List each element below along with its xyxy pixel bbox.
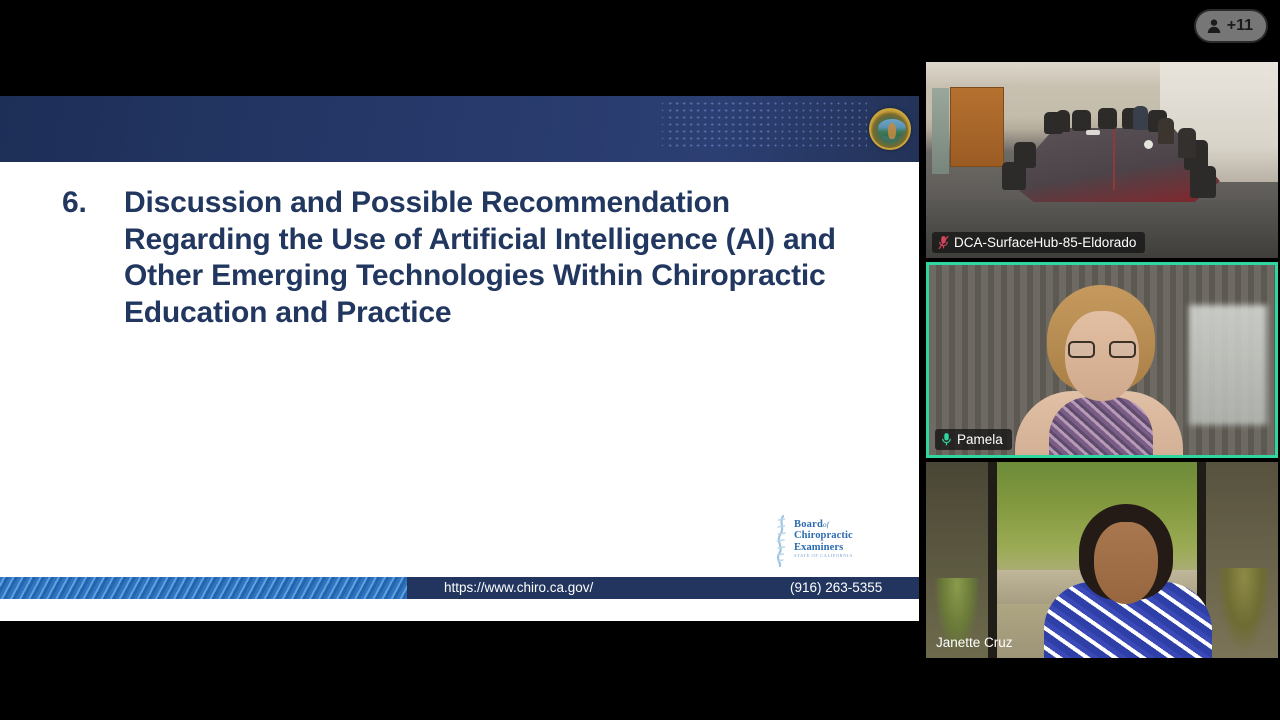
table-cup <box>1144 140 1153 149</box>
participant-face <box>1094 522 1158 604</box>
overflow-count: +11 <box>1227 17 1253 35</box>
eyeglasses-icon <box>1068 341 1136 358</box>
overflow-participants-badge[interactable]: +11 <box>1194 9 1268 43</box>
participant-clothing <box>1049 397 1153 455</box>
participant-tile-pamela[interactable]: Pamela <box>926 262 1278 458</box>
chair <box>1072 110 1091 131</box>
room-door <box>950 87 1004 167</box>
room-glass-panel <box>932 88 949 174</box>
footer-phone-number: (916) 263-5355 <box>790 580 882 595</box>
microphone-icon <box>941 432 952 447</box>
logo-line-3: Examiners <box>794 542 853 553</box>
meeting-window: 6. Discussion and Possible Recommendatio… <box>0 0 1280 720</box>
participant-video-feed <box>926 62 1278 258</box>
logo-line-1-small: of <box>823 521 829 529</box>
shared-screen-slide[interactable]: 6. Discussion and Possible Recommendatio… <box>0 96 919 621</box>
conference-table-seam <box>1113 128 1115 190</box>
logo-wordmark: Boardof Chiropractic Examiners STATE OF … <box>794 519 853 559</box>
footer-stripe-pattern <box>0 577 407 599</box>
header-dot-pattern <box>667 100 867 148</box>
slide-footer-band: https://www.chiro.ca.gov/ (916) 263-5355 <box>0 577 919 599</box>
seated-person <box>1133 106 1148 130</box>
participant-video-feed <box>929 265 1275 455</box>
california-state-seal-icon <box>869 108 911 150</box>
logo-line-4: STATE OF CALIFORNIA <box>794 554 853 559</box>
chair <box>1002 162 1026 190</box>
participant-name-badge: Janette Cruz <box>932 632 1022 653</box>
slide-header-band <box>0 96 919 162</box>
chair <box>1098 108 1117 129</box>
slide-title-block: 6. Discussion and Possible Recommendatio… <box>62 185 859 331</box>
participant-name-badge: DCA-SurfaceHub-85-Eldorado <box>932 232 1145 253</box>
logo-line-1: Board <box>794 519 823 530</box>
person-icon <box>1206 18 1222 34</box>
chair <box>1190 166 1216 198</box>
participant-tile-janette-cruz[interactable]: Janette Cruz <box>926 462 1278 658</box>
background-plant-right <box>1216 568 1272 654</box>
table-document <box>1086 130 1100 135</box>
slide-body: 6. Discussion and Possible Recommendatio… <box>0 162 919 599</box>
spine-icon <box>774 515 790 567</box>
participant-name: DCA-SurfaceHub-85-Eldorado <box>954 235 1136 250</box>
microphone-muted-icon <box>938 235 949 250</box>
seated-person <box>1158 118 1174 144</box>
participant-name-badge: Pamela <box>935 429 1012 450</box>
participant-name: Pamela <box>957 432 1003 447</box>
participant-tile-dca-surfacehub[interactable]: DCA-SurfaceHub-85-Eldorado <box>926 62 1278 258</box>
agenda-item-number: 6. <box>62 185 124 222</box>
seated-person <box>1178 128 1196 158</box>
window-frame-left <box>988 462 997 658</box>
logo-line-2: Chiropractic <box>794 530 853 541</box>
board-of-chiropractic-examiners-logo: Boardof Chiropractic Examiners STATE OF … <box>774 513 874 569</box>
page-title: Discussion and Possible Recommendation R… <box>124 185 854 331</box>
background-window <box>1189 305 1267 425</box>
participant-video-feed <box>926 462 1278 658</box>
footer-website-url: https://www.chiro.ca.gov/ <box>444 580 593 595</box>
participant-name: Janette Cruz <box>936 635 1013 650</box>
seated-person <box>1056 110 1070 132</box>
